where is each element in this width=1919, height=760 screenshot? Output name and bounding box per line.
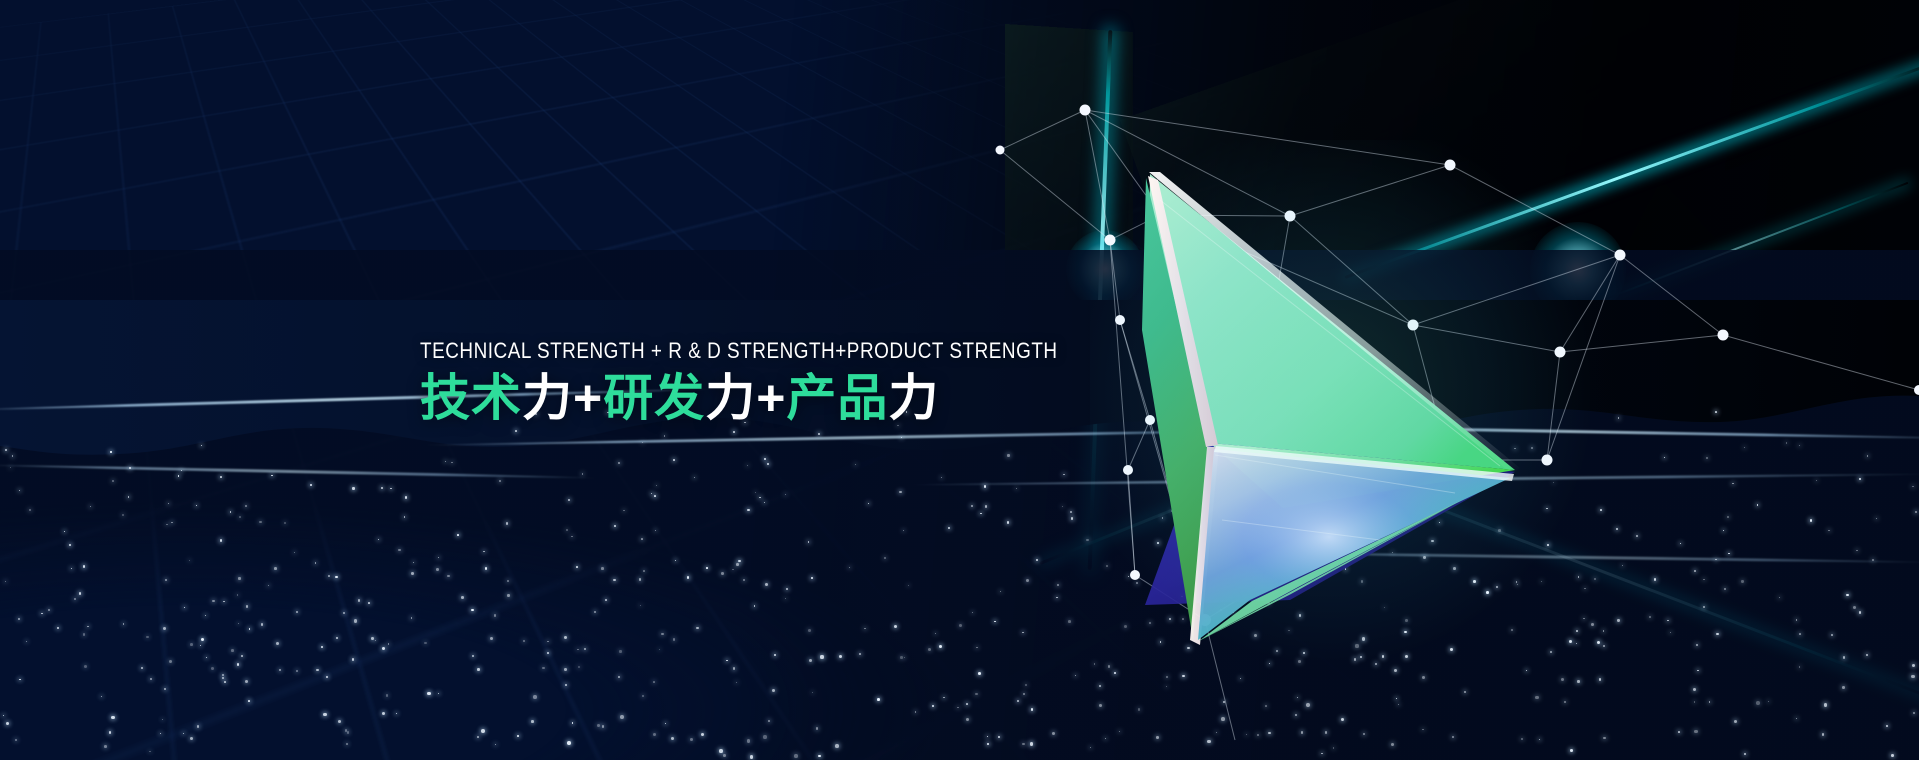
wave-particle xyxy=(238,577,240,579)
wave-particle xyxy=(1398,704,1399,705)
wave-particle xyxy=(763,735,767,739)
wave-particle xyxy=(1597,641,1600,644)
wave-particle xyxy=(1246,734,1247,735)
wave-particle xyxy=(1744,753,1747,756)
wave-particle xyxy=(1099,704,1102,707)
wave-particle xyxy=(747,509,749,511)
wave-particle xyxy=(517,735,518,736)
wave-particle xyxy=(1157,542,1159,544)
wave-particle xyxy=(835,744,839,748)
wave-particle xyxy=(935,633,936,634)
wave-particle xyxy=(664,435,666,437)
wave-particle xyxy=(564,668,567,671)
wave-particle xyxy=(754,605,756,607)
wave-particle xyxy=(747,465,748,466)
wave-particle xyxy=(189,560,190,561)
wave-particle xyxy=(1886,725,1888,727)
wave-particle xyxy=(122,514,124,516)
wave-particle xyxy=(499,480,501,482)
wave-particle xyxy=(222,677,224,679)
wave-particle xyxy=(1295,714,1297,716)
wave-particle xyxy=(477,736,479,738)
wave-particle xyxy=(1075,675,1076,676)
wave-particle xyxy=(181,470,183,472)
wave-particle xyxy=(785,598,786,599)
wave-particle xyxy=(1654,578,1657,581)
wave-particle xyxy=(971,505,973,507)
wave-particle xyxy=(129,467,131,469)
wave-particle xyxy=(1195,568,1197,570)
wave-particle xyxy=(1912,486,1914,488)
wave-particle xyxy=(1056,597,1057,598)
wave-particle xyxy=(237,594,238,595)
wave-particle xyxy=(1553,482,1554,483)
wave-particle xyxy=(1128,576,1129,577)
wave-particle xyxy=(899,491,901,493)
wave-particle xyxy=(1052,732,1055,735)
wave-particle xyxy=(201,638,204,641)
headline-chinese-segment-5: + xyxy=(756,370,786,426)
wave-particle xyxy=(655,530,656,531)
wave-particle xyxy=(1404,631,1407,634)
wave-particle xyxy=(654,495,656,497)
wave-particle xyxy=(321,646,323,648)
wave-particle xyxy=(1016,488,1017,489)
wave-particle xyxy=(436,568,439,571)
wave-particle xyxy=(1232,612,1233,613)
wave-particle xyxy=(1269,663,1270,664)
wave-particle xyxy=(1912,664,1915,667)
wave-particle xyxy=(1114,672,1116,674)
wave-particle xyxy=(149,751,151,753)
wave-particle xyxy=(1727,516,1729,518)
wave-particle xyxy=(1375,663,1378,666)
wave-particle xyxy=(211,667,214,670)
wave-particle xyxy=(665,723,666,724)
wave-particle xyxy=(346,743,348,745)
wave-particle xyxy=(495,744,496,745)
wave-particle xyxy=(1166,686,1168,688)
wave-particle xyxy=(1068,620,1071,623)
wave-particle xyxy=(1867,455,1868,456)
wave-particle xyxy=(1355,644,1358,647)
wave-particle xyxy=(774,654,776,656)
wave-particle xyxy=(110,451,111,452)
headline-chinese-segment-2: + xyxy=(573,370,603,426)
wave-particle xyxy=(472,655,474,657)
wave-particle xyxy=(564,636,567,639)
wave-particle xyxy=(411,617,413,619)
wave-particle xyxy=(976,647,977,648)
wave-particle xyxy=(987,736,988,737)
wave-particle xyxy=(375,640,376,641)
wave-particle xyxy=(1828,530,1830,532)
wave-particle xyxy=(1535,696,1539,700)
wave-particle xyxy=(1866,654,1869,657)
wave-particle xyxy=(998,736,1000,738)
wave-particle xyxy=(1516,581,1518,583)
wave-particle xyxy=(1305,483,1306,484)
wave-particle xyxy=(884,557,886,559)
wave-particle xyxy=(196,505,197,506)
wave-particle xyxy=(653,681,655,683)
wave-particle xyxy=(1124,625,1127,628)
wave-particle xyxy=(200,645,201,646)
wave-particle xyxy=(1299,614,1301,616)
wave-particle xyxy=(928,648,931,651)
wave-particle xyxy=(978,672,981,675)
wave-particle xyxy=(382,712,385,715)
wave-particle xyxy=(651,493,653,495)
wave-particle xyxy=(1298,660,1301,663)
wave-particle xyxy=(1816,480,1817,481)
wave-particle xyxy=(26,641,27,642)
wave-particle xyxy=(1670,632,1671,633)
wave-particle xyxy=(19,679,20,680)
wave-particle xyxy=(3,715,4,716)
wave-particle xyxy=(941,477,942,478)
wave-particle xyxy=(15,739,17,741)
wave-particle xyxy=(164,688,166,690)
wave-particle xyxy=(966,718,969,721)
wave-particle xyxy=(1090,747,1091,748)
wave-particle xyxy=(1576,630,1578,632)
wave-particle xyxy=(1257,734,1259,736)
wave-particle xyxy=(809,659,812,662)
wave-particle xyxy=(1577,680,1579,682)
wave-particle xyxy=(641,538,643,540)
wave-particle xyxy=(490,637,493,640)
wave-particle xyxy=(1288,630,1290,632)
wave-particle xyxy=(673,638,676,641)
wave-particle xyxy=(1570,749,1573,752)
wave-particle xyxy=(1216,732,1217,733)
wave-particle xyxy=(1007,454,1009,456)
wave-particle xyxy=(1694,570,1696,572)
wave-particle xyxy=(1600,509,1602,511)
wave-particle xyxy=(471,609,473,611)
wave-particle xyxy=(1443,502,1445,504)
wave-particle xyxy=(859,653,862,656)
wave-particle xyxy=(90,506,91,507)
wave-particle xyxy=(642,695,644,697)
wave-particle xyxy=(1182,675,1185,678)
wave-particle xyxy=(1221,717,1225,721)
wave-particle xyxy=(764,458,766,460)
wave-particle xyxy=(1723,530,1724,531)
wave-particle xyxy=(323,713,326,716)
wave-particle xyxy=(1431,540,1434,543)
wave-particle xyxy=(1392,552,1394,554)
wave-particle xyxy=(1320,501,1322,503)
wave-particle xyxy=(1876,518,1877,519)
wave-particle xyxy=(160,733,162,735)
wave-particle xyxy=(112,480,114,482)
wave-particle xyxy=(347,731,350,734)
wave-particle xyxy=(1709,701,1710,702)
wave-particle xyxy=(943,697,945,699)
wave-particle xyxy=(71,568,72,569)
wave-particle xyxy=(354,619,357,622)
wave-particle xyxy=(163,627,166,630)
wave-particle xyxy=(381,487,383,489)
wave-particle xyxy=(1703,606,1705,608)
wave-particle xyxy=(1859,478,1861,480)
wave-particle xyxy=(336,637,338,639)
wave-particle xyxy=(1149,622,1151,624)
wave-particle xyxy=(901,437,902,438)
wave-particle xyxy=(1728,553,1729,554)
wave-particle xyxy=(1333,747,1335,749)
wave-particle xyxy=(1422,676,1425,679)
wave-particle xyxy=(1511,629,1513,631)
wave-particle xyxy=(594,611,596,613)
wave-particle xyxy=(565,684,568,687)
wave-particle xyxy=(358,599,360,601)
wave-particle xyxy=(1240,678,1241,679)
wave-particle xyxy=(162,719,163,720)
wave-particle xyxy=(1171,510,1173,512)
wave-particle xyxy=(183,733,184,734)
wave-particle xyxy=(1464,691,1466,693)
wave-particle xyxy=(230,511,232,513)
wave-particle xyxy=(1405,655,1408,658)
wave-particle xyxy=(1578,576,1580,578)
wave-particle xyxy=(1696,644,1698,646)
wave-particle xyxy=(619,650,621,652)
wave-particle xyxy=(1594,578,1596,580)
wave-particle xyxy=(1678,731,1680,733)
wave-particle xyxy=(1321,753,1323,755)
wave-particle xyxy=(1584,588,1585,589)
wave-particle xyxy=(238,623,239,624)
wave-particle xyxy=(1254,634,1257,637)
wave-particle xyxy=(597,724,600,727)
wave-particle xyxy=(642,442,643,443)
wave-particle xyxy=(438,693,439,694)
wave-particle xyxy=(284,522,286,524)
wave-particle xyxy=(445,461,446,462)
wave-particle xyxy=(169,660,172,663)
wave-particle xyxy=(411,572,414,575)
wave-particle xyxy=(1026,579,1029,582)
wave-particle xyxy=(197,725,199,727)
wave-particle xyxy=(1599,678,1602,681)
wave-particle xyxy=(984,485,986,487)
wave-particle xyxy=(1576,643,1577,644)
wave-particle xyxy=(577,649,579,651)
wave-particle xyxy=(1697,670,1698,671)
wave-particle xyxy=(618,676,620,678)
wave-particle xyxy=(1872,559,1874,561)
wave-particle xyxy=(706,567,708,569)
wave-particle xyxy=(547,641,548,642)
wave-particle xyxy=(1539,739,1540,740)
wave-particle xyxy=(245,680,248,683)
wave-particle xyxy=(1796,718,1797,719)
wave-particle xyxy=(1396,698,1397,699)
wave-particle xyxy=(481,729,485,733)
wave-particle xyxy=(675,560,676,561)
wave-particle xyxy=(1822,733,1824,735)
wave-particle xyxy=(687,576,689,578)
wave-particle xyxy=(5,449,7,451)
wave-particle xyxy=(1526,670,1527,671)
wave-particle xyxy=(1649,616,1651,618)
wave-particle xyxy=(1023,693,1025,695)
wave-particle xyxy=(220,539,223,542)
wave-particle xyxy=(620,715,624,719)
wave-particle xyxy=(128,496,129,497)
wave-particle xyxy=(190,737,194,741)
wave-particle xyxy=(1227,564,1230,567)
wave-particle xyxy=(764,502,765,503)
wave-particle xyxy=(1757,504,1759,506)
wave-particle xyxy=(1799,633,1801,635)
wave-particle xyxy=(382,647,385,650)
wave-particle xyxy=(1550,651,1552,653)
wave-particle xyxy=(582,473,584,475)
wave-particle xyxy=(1336,446,1338,448)
wave-particle xyxy=(507,594,509,596)
wave-particle xyxy=(904,657,905,658)
wave-particle xyxy=(719,749,723,753)
wave-particle xyxy=(696,627,699,630)
headline-block: TECHNICAL STRENGTH + R & D STRENGTH+PROD… xyxy=(420,338,1161,428)
wave-particle xyxy=(74,598,76,600)
wave-particle xyxy=(18,618,20,620)
wave-particle xyxy=(1249,472,1250,473)
wave-particle xyxy=(1000,591,1001,592)
wave-particle xyxy=(246,605,248,607)
wave-particle xyxy=(602,725,605,728)
wave-particle xyxy=(166,524,168,526)
wave-particle xyxy=(972,612,973,613)
wave-particle xyxy=(368,602,370,604)
wave-particle xyxy=(386,694,388,696)
wave-particle xyxy=(759,497,760,498)
wave-particle xyxy=(371,637,374,640)
wave-particle xyxy=(274,567,277,570)
wave-particle xyxy=(1824,703,1827,706)
wave-particle xyxy=(123,623,125,625)
wave-particle xyxy=(87,626,88,627)
wave-particle xyxy=(249,628,250,629)
wave-particle xyxy=(6,722,10,726)
wave-particle xyxy=(1467,491,1469,493)
wave-particle xyxy=(1221,488,1222,489)
wave-particle xyxy=(1693,688,1696,691)
wave-particle xyxy=(1341,718,1344,721)
wave-particle xyxy=(10,467,11,468)
wave-particle xyxy=(994,621,995,622)
wave-particle xyxy=(820,655,823,658)
wave-particle xyxy=(1025,684,1027,686)
wave-particle xyxy=(673,459,675,461)
wave-particle xyxy=(531,720,534,723)
wave-particle xyxy=(1394,669,1397,672)
wave-particle xyxy=(1017,700,1019,702)
wave-particle xyxy=(1297,697,1299,699)
wave-particle xyxy=(1664,457,1665,458)
wave-particle xyxy=(959,624,962,627)
wave-particle xyxy=(398,549,400,551)
wave-particle xyxy=(352,658,355,661)
wave-particle xyxy=(656,485,657,486)
wave-particle xyxy=(451,462,453,464)
wave-particle xyxy=(868,503,870,505)
wave-particle xyxy=(1106,565,1108,567)
wave-particle xyxy=(1591,623,1594,626)
wave-particle xyxy=(1786,442,1787,443)
wave-particle xyxy=(1891,754,1894,757)
wave-particle xyxy=(1583,618,1585,620)
wave-particle xyxy=(1541,581,1542,582)
wave-particle xyxy=(1108,665,1111,668)
wave-particle xyxy=(1405,619,1408,622)
wave-particle xyxy=(808,541,810,543)
wave-particle xyxy=(1603,737,1605,739)
wave-particle xyxy=(1853,606,1856,609)
wave-particle xyxy=(335,576,337,578)
wave-particle xyxy=(1741,580,1743,582)
wave-particle xyxy=(701,733,705,737)
wave-particle xyxy=(1564,701,1566,703)
wave-particle xyxy=(507,580,509,582)
hero-banner: TECHNICAL STRENGTH + R & D STRENGTH+PROD… xyxy=(0,0,1919,760)
wave-particle xyxy=(109,731,111,733)
wave-particle xyxy=(736,563,739,566)
headline-chinese-segment-0: 技术 xyxy=(420,370,522,426)
wave-particle xyxy=(643,570,645,572)
wave-particle xyxy=(1799,666,1801,668)
wave-particle xyxy=(1859,611,1862,614)
wave-particle xyxy=(388,643,389,644)
wave-particle xyxy=(1617,619,1619,621)
wave-particle xyxy=(1301,731,1304,734)
wave-particle xyxy=(83,565,86,568)
wave-particle xyxy=(623,510,625,512)
wave-particle xyxy=(1156,736,1159,739)
wave-particle xyxy=(1423,556,1426,559)
wave-particle xyxy=(855,464,856,465)
wave-particle xyxy=(424,642,426,644)
wave-particle xyxy=(738,560,741,563)
wave-particle xyxy=(5,581,6,582)
wave-particle xyxy=(811,577,814,580)
wave-particle xyxy=(19,490,20,491)
wave-particle xyxy=(506,522,508,524)
wave-particle xyxy=(141,667,143,669)
wave-particle xyxy=(721,572,724,575)
wave-particle xyxy=(1354,658,1357,661)
wave-particle xyxy=(1265,705,1267,707)
wave-particle xyxy=(1744,447,1745,448)
wave-particle xyxy=(932,705,934,707)
wave-particle xyxy=(1732,483,1734,485)
wave-particle xyxy=(601,567,604,570)
wave-particle xyxy=(485,567,487,569)
wave-particle xyxy=(523,640,525,642)
wave-particle xyxy=(786,588,788,590)
wave-particle xyxy=(1724,588,1726,590)
wave-particle xyxy=(239,516,241,518)
wave-particle xyxy=(104,745,107,748)
wave-particle xyxy=(1398,527,1400,529)
wave-particle xyxy=(1235,527,1237,529)
wave-particle xyxy=(12,455,13,456)
wave-particle xyxy=(1514,448,1515,449)
